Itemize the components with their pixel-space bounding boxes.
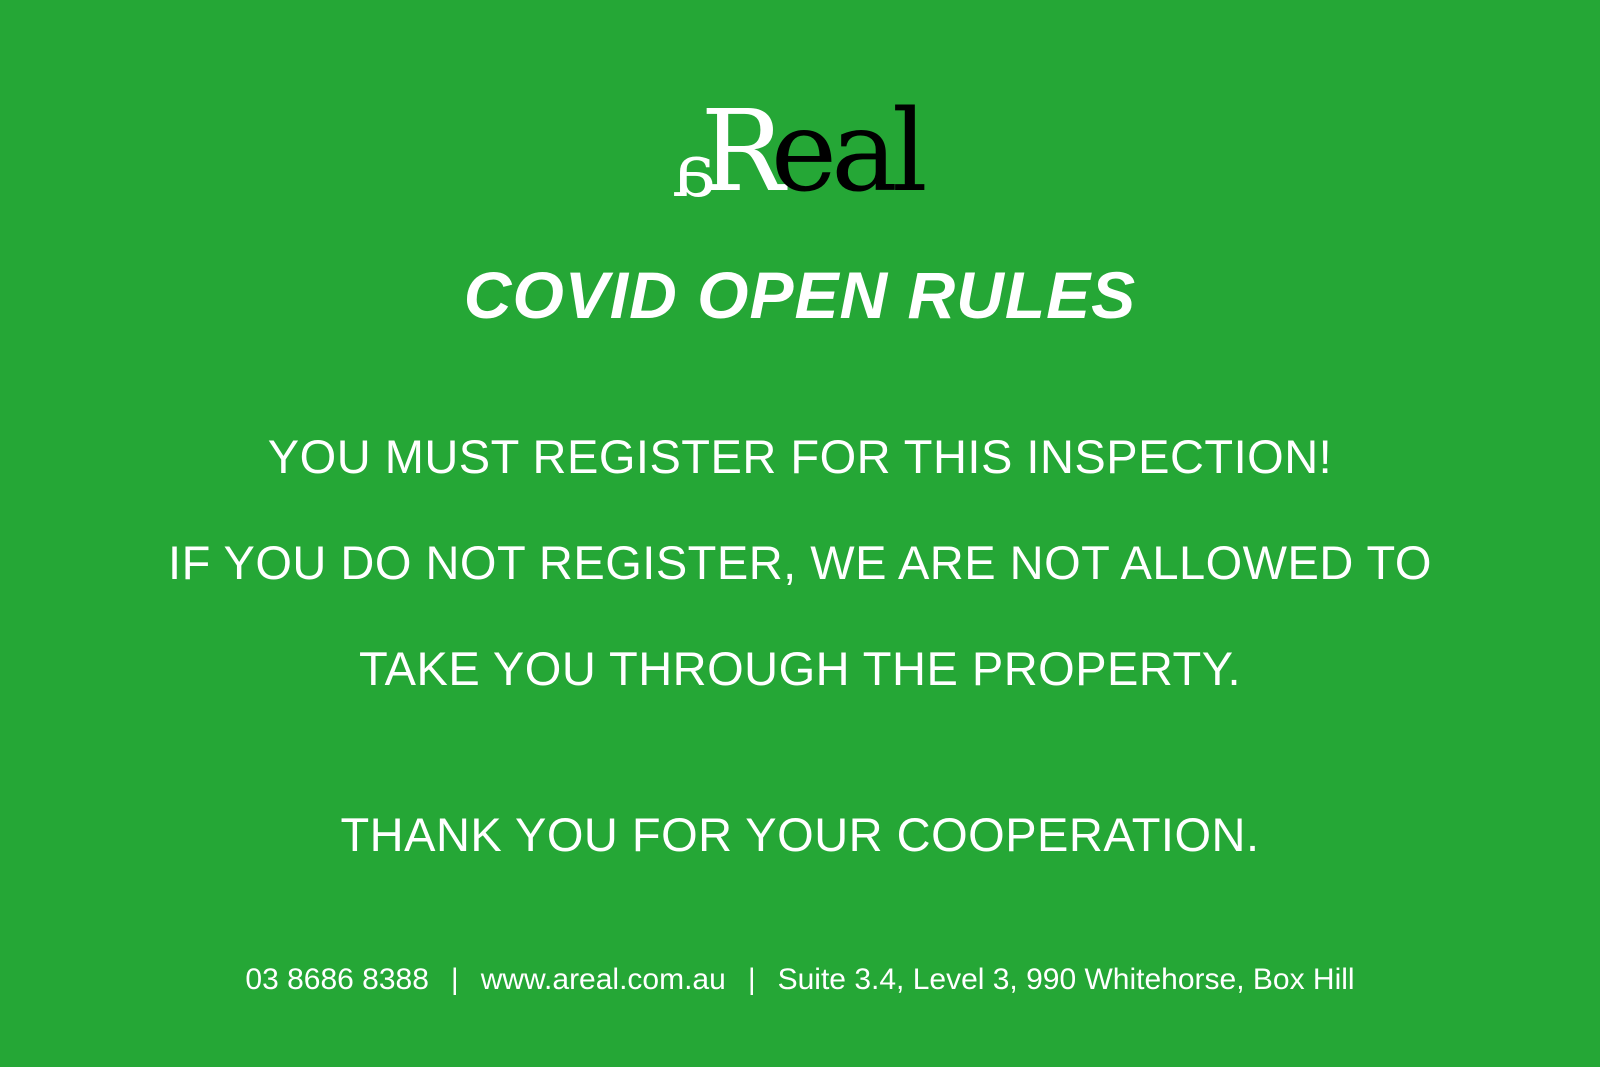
footer-address: Suite 3.4, Level 3, 990 Whitehorse, Box … — [778, 960, 1355, 1000]
notice-line-4: THANK YOU FOR YOUR COOPERATION. — [0, 782, 1600, 888]
footer-phone: 03 8686 8388 — [245, 960, 429, 1000]
notice-body: YOU MUST REGISTER FOR THIS INSPECTION! I… — [0, 404, 1600, 888]
footer-separator-1: | — [429, 960, 481, 1000]
logo-letter-a: a — [678, 134, 716, 208]
logo-wordmark: aReal — [678, 96, 921, 208]
brand-logo: aReal — [0, 68, 1600, 208]
poster-canvas: aReal COVID OPEN RULES YOU MUST REGISTER… — [0, 0, 1600, 1067]
footer-website[interactable]: www.areal.com.au — [481, 960, 726, 1000]
notice-line-1: YOU MUST REGISTER FOR THIS INSPECTION! — [0, 404, 1600, 510]
contact-footer: 03 8686 8388|www.areal.com.au|Suite 3.4,… — [0, 960, 1600, 1000]
logo-letters-eal: eal — [771, 96, 922, 208]
notice-line-3: TAKE YOU THROUGH THE PROPERTY. — [0, 616, 1600, 722]
footer-separator-2: | — [726, 960, 778, 1000]
notice-line-2: IF YOU DO NOT REGISTER, WE ARE NOT ALLOW… — [0, 510, 1600, 616]
page-title: COVID OPEN RULES — [0, 262, 1600, 328]
